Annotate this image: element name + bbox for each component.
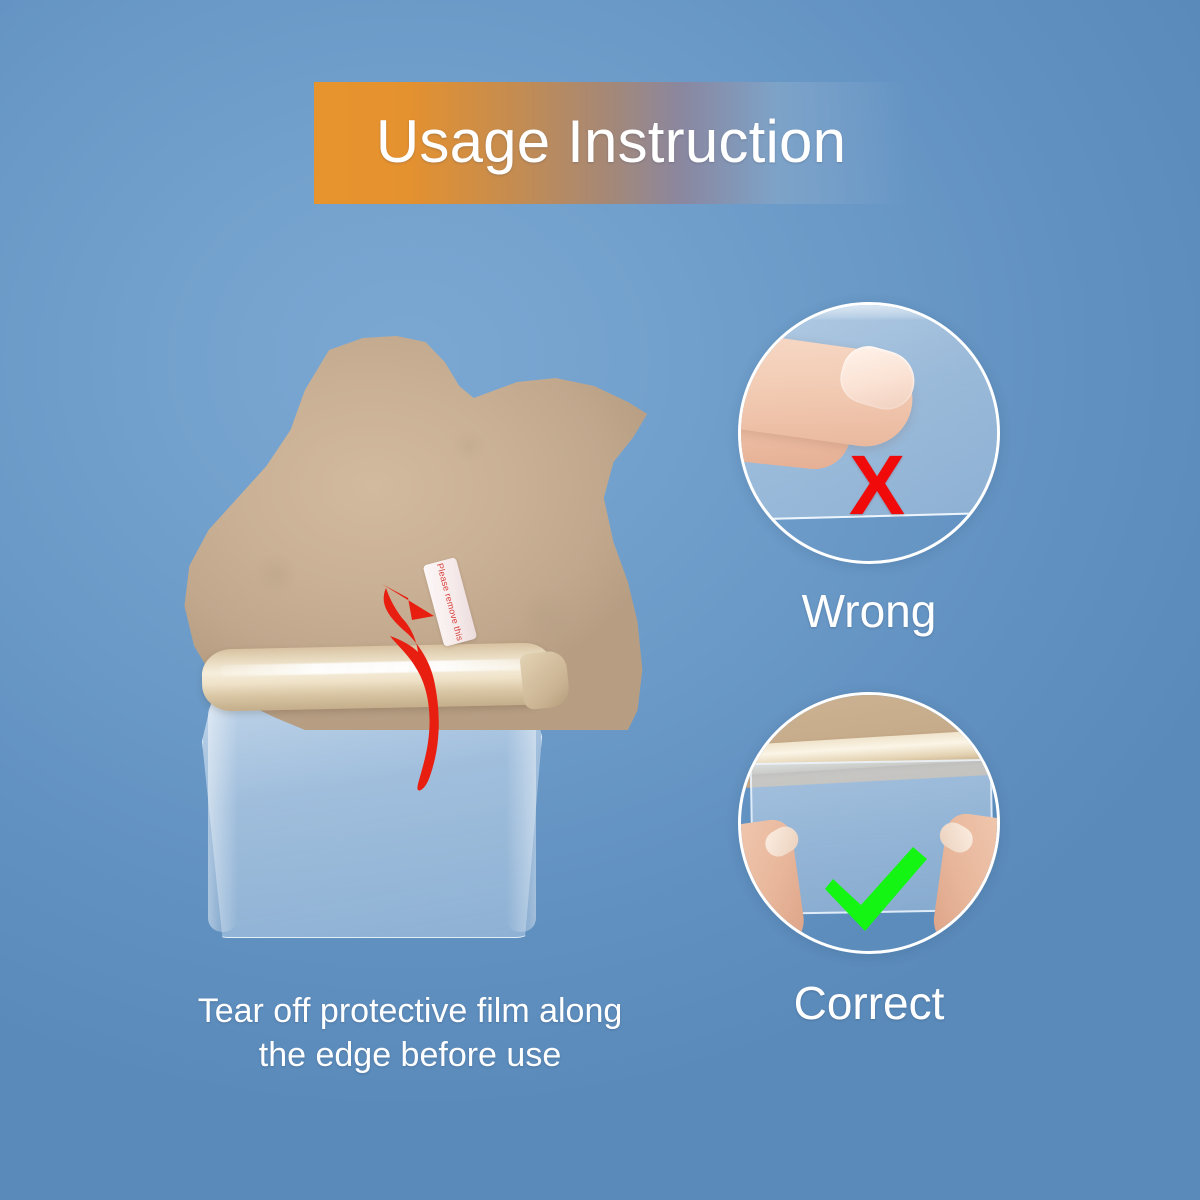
main-product-photo: Please remove this [150,300,670,960]
wrong-example-photo: X [741,305,997,561]
right-hand [930,811,1000,954]
example-circle-correct [738,692,1000,954]
caption-line-2: the edge before use [120,1034,700,1078]
header-banner: Usage Instruction [314,82,908,204]
infographic-canvas: Usage Instruction Please remove this Tea… [0,0,1200,1200]
left-hand [738,817,808,954]
main-step-caption: Tear off protective film along the edge … [120,990,700,1077]
clear-film-top-edge [781,302,1000,319]
label-wrong: Wrong [719,584,1019,638]
correct-example-photo [741,695,997,951]
x-mark-icon: X [849,443,905,527]
check-mark-icon [819,845,931,933]
label-correct: Correct [719,976,1019,1030]
peel-direction-arrow [368,576,528,796]
holder-sheen-left [208,700,238,932]
page-title: Usage Instruction [314,107,908,176]
caption-line-1: Tear off protective film along [120,990,700,1034]
example-circle-wrong: X [738,302,1000,564]
